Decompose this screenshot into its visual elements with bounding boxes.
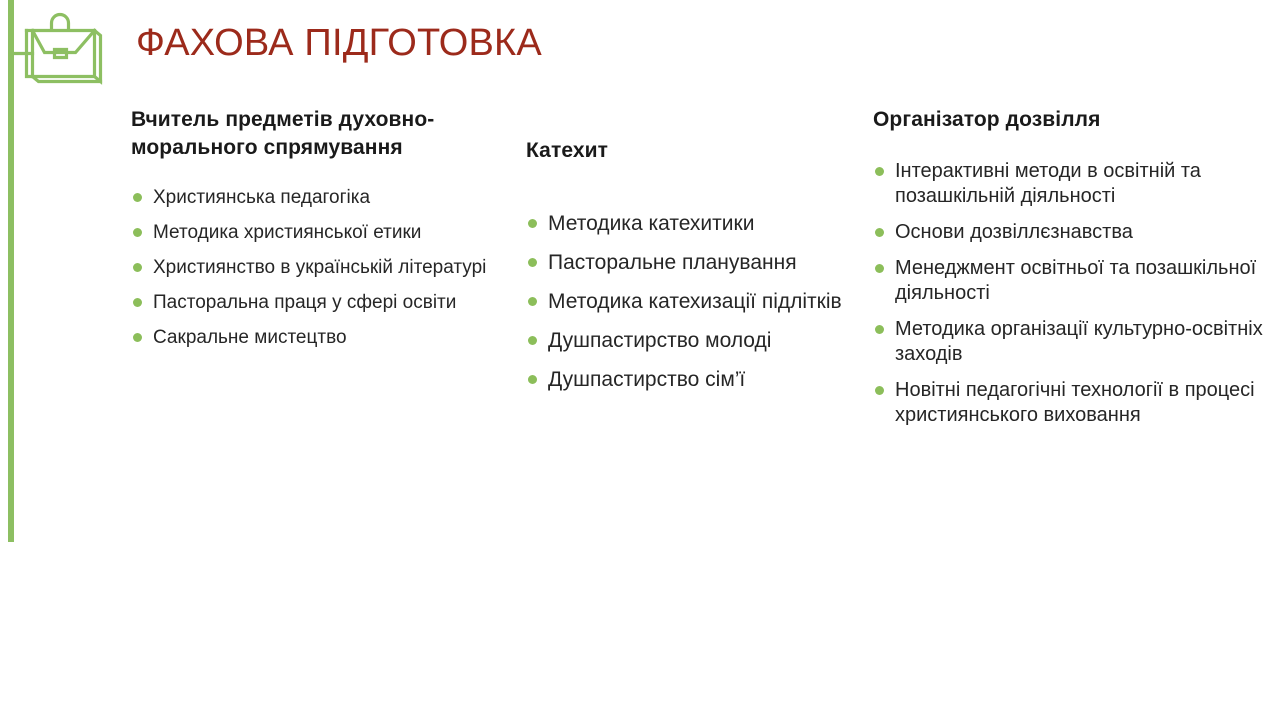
list-item: Пасторальна праця у сфері освіти xyxy=(131,290,501,316)
bullet-dot-icon xyxy=(875,228,884,237)
bullet-list: Християнська педагогіка Методика христия… xyxy=(131,185,501,351)
bullet-dot-icon xyxy=(528,297,537,306)
list-item-label: Методика християнської етики xyxy=(153,220,501,246)
list-item-label: Душпастирство молоді xyxy=(548,326,866,355)
list-item: Пасторальне планування xyxy=(526,248,866,277)
bullet-list: Інтерактивні методи в освітній та позашк… xyxy=(873,159,1263,428)
bullet-dot-icon xyxy=(133,228,142,237)
column-heading: Вчитель предметів духовно-морального спр… xyxy=(131,106,501,162)
bullet-dot-icon xyxy=(875,167,884,176)
list-item: Душпастирство сім’ї xyxy=(526,365,866,394)
bullet-dot-icon xyxy=(528,219,537,228)
bullet-dot-icon xyxy=(875,264,884,273)
bullet-dot-icon xyxy=(133,298,142,307)
bullet-dot-icon xyxy=(875,386,884,395)
bullet-list: Методика катехитики Пасторальне плануван… xyxy=(526,209,866,394)
list-item-label: Основи дозвіллєзнавства xyxy=(895,220,1263,245)
list-item-label: Християнство в українській літературі xyxy=(153,255,501,281)
list-item: Сакральне мистецтво xyxy=(131,325,501,351)
list-item: Основи дозвіллєзнавства xyxy=(873,220,1263,245)
slide: ФАХОВА ПІДГОТОВКА Вчитель предметів духо… xyxy=(0,0,1269,714)
column-organizator: Організатор дозвілля Інтерактивні методи… xyxy=(873,106,1263,439)
column-vchytel: Вчитель предметів духовно-морального спр… xyxy=(131,106,501,360)
list-item-label: Методика організації культурно-освітніх … xyxy=(895,317,1263,367)
list-item-label: Методика катехитики xyxy=(548,209,866,238)
column-heading: Катехит xyxy=(526,137,866,165)
briefcase-icon xyxy=(4,8,120,92)
list-item: Менеджмент освітньої та позашкільної дія… xyxy=(873,256,1263,306)
column-katekhyt: Катехит Методика катехитики Пасторальне … xyxy=(526,137,866,404)
list-item: Методика катехитики xyxy=(526,209,866,238)
bullet-dot-icon xyxy=(133,263,142,272)
list-item-label: Менеджмент освітньої та позашкільної дія… xyxy=(895,256,1263,306)
page-title: ФАХОВА ПІДГОТОВКА xyxy=(136,20,542,66)
bullet-dot-icon xyxy=(528,375,537,384)
list-item-label: Пасторальна праця у сфері освіти xyxy=(153,290,501,316)
list-item-label: Інтерактивні методи в освітній та позашк… xyxy=(895,159,1263,209)
list-item-label: Душпастирство сім’ї xyxy=(548,365,866,394)
list-item-label: Новітні педагогічні технології в процесі… xyxy=(895,378,1263,428)
list-item: Інтерактивні методи в освітній та позашк… xyxy=(873,159,1263,209)
bullet-dot-icon xyxy=(528,258,537,267)
bullet-dot-icon xyxy=(528,336,537,345)
list-item: Методика християнської етики xyxy=(131,220,501,246)
list-item: Новітні педагогічні технології в процесі… xyxy=(873,378,1263,428)
column-heading: Організатор дозвілля xyxy=(873,106,1263,134)
list-item: Методика організації культурно-освітніх … xyxy=(873,317,1263,367)
list-item-label: Сакральне мистецтво xyxy=(153,325,501,351)
bullet-dot-icon xyxy=(133,193,142,202)
list-item: Душпастирство молоді xyxy=(526,326,866,355)
list-item-label: Методика катехизації підлітків xyxy=(548,287,866,316)
list-item: Методика катехизації підлітків xyxy=(526,287,866,316)
bullet-dot-icon xyxy=(875,325,884,334)
bullet-dot-icon xyxy=(133,333,142,342)
list-item: Християнство в українській літературі xyxy=(131,255,501,281)
list-item-label: Християнська педагогіка xyxy=(153,185,501,211)
list-item-label: Пасторальне планування xyxy=(548,248,866,277)
list-item: Християнська педагогіка xyxy=(131,185,501,211)
